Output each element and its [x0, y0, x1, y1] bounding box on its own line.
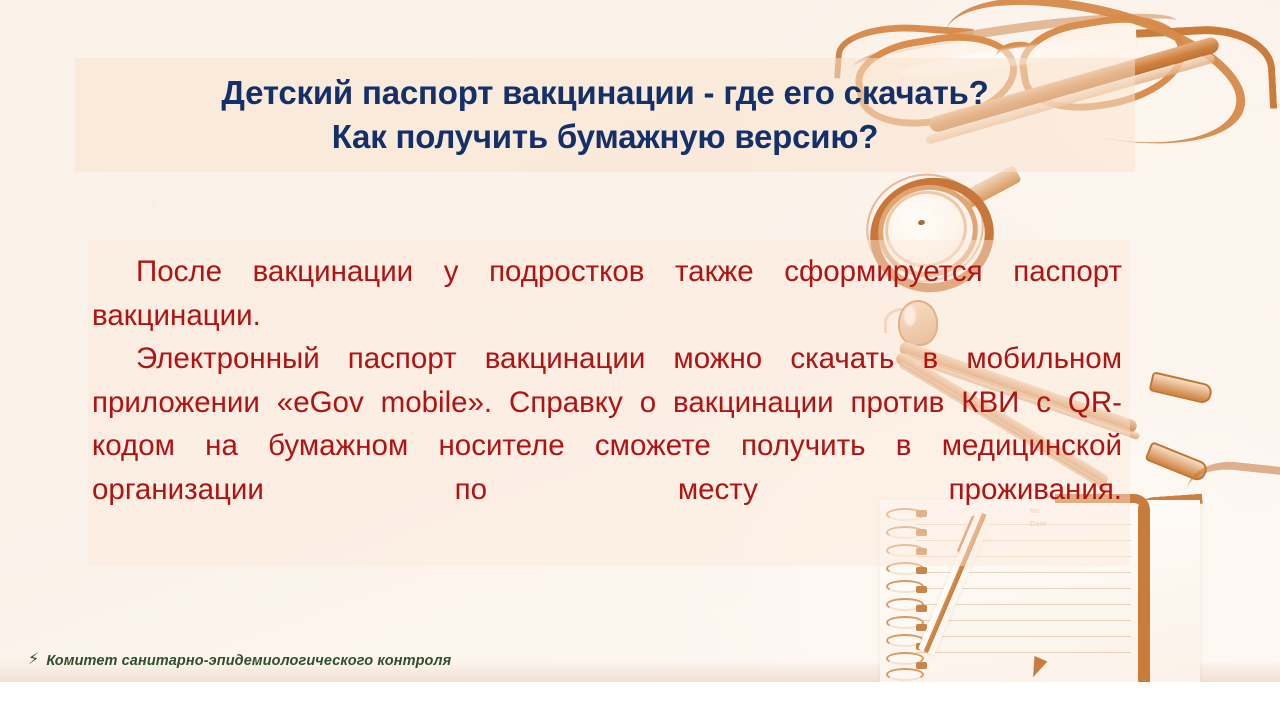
footer: ⚡ Комитет санитарно-эпидемиологического … — [28, 653, 451, 669]
lightning-bolt-icon: ⚡ — [28, 652, 39, 668]
body-paragraph-2: Электронный паспорт вакцинации можно ска… — [92, 337, 1122, 555]
bottom-white-strip — [0, 682, 1280, 720]
footer-label: Комитет санитарно-эпидемиологического ко… — [46, 653, 451, 669]
slide-canvas: No. Date Детский паспорт вакцинации - гд… — [0, 0, 1280, 720]
title-line-1: Детский паспорт вакцинации - где его ска… — [221, 71, 988, 115]
notebook-cover-edge — [1138, 504, 1147, 684]
title-banner: Детский паспорт вакцинации - где его ска… — [75, 58, 1135, 172]
body-text-panel: После вакцинации у подростков также сфор… — [88, 240, 1130, 566]
title-line-2: Как получить бумажную версию? — [332, 115, 879, 159]
stethoscope-eartip-upper — [1149, 371, 1214, 404]
body-paragraph-1: После вакцинации у подростков также сфор… — [92, 250, 1122, 337]
body-text: После вакцинации у подростков также сфор… — [92, 250, 1122, 555]
